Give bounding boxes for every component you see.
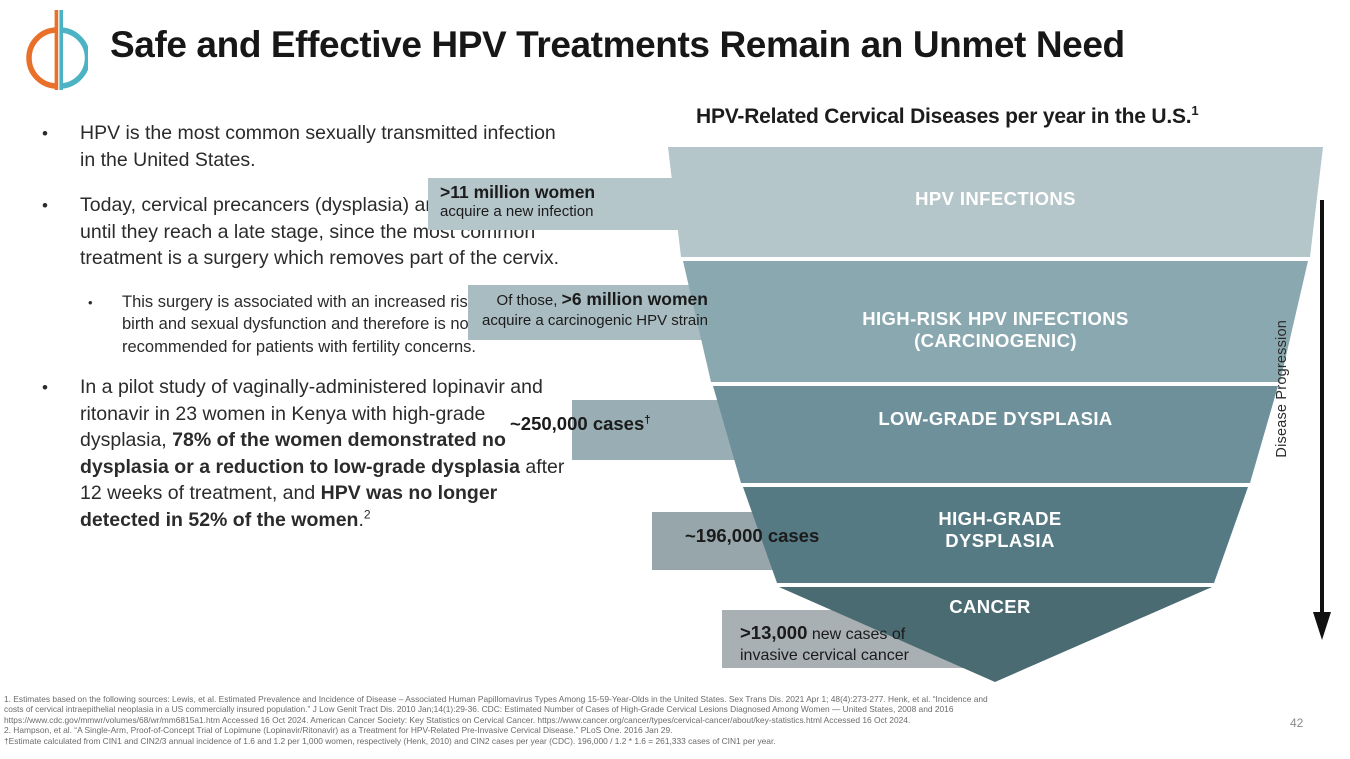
callout-3-line1: ~250,000 cases† <box>510 413 651 435</box>
page-number: 42 <box>1290 716 1303 730</box>
bullet-dot: • <box>42 193 48 220</box>
footnote-line: †Estimate calculated from CIN1 and CIN2/… <box>4 736 1274 746</box>
funnel-chart: HPV INFECTIONS HIGH-RISK HPV INFECTIONS … <box>410 140 1350 695</box>
funnel-label-high-grade-line2: DYSPLASIA <box>790 530 1210 552</box>
footnote-line: 1. Estimates based on the following sour… <box>4 694 1274 704</box>
callout-high-grade: ~196,000 cases <box>685 525 819 547</box>
footnote-line: 2. Hampson, et al. “A Single-Arm, Proof-… <box>4 725 1274 735</box>
callout-2-prefix: Of those, <box>497 292 562 309</box>
callout-5-line1: >13,000 new cases of <box>740 622 909 645</box>
footnote-line: costs of cervical intraepithelial neopla… <box>4 704 1274 714</box>
funnel-label-low-grade: LOW-GRADE DYSPLASIA <box>668 408 1323 430</box>
callout-hpv-infections: >11 million women acquire a new infectio… <box>440 182 595 222</box>
callout-5-value: >13,000 <box>740 622 807 643</box>
footnote-line: https://www.cdc.gov/mmwr/volumes/68/wr/m… <box>4 715 1274 725</box>
axis-label-disease-progression: Disease Progression <box>1274 320 1290 458</box>
bullet-dot: • <box>42 375 48 402</box>
funnel-label-high-risk: HIGH-RISK HPV INFECTIONS (CARCINOGENIC) <box>668 308 1323 352</box>
callout-5-text-1: new cases of <box>807 626 905 643</box>
bullet-dot: • <box>88 292 93 315</box>
funnel-title-text: HPV-Related Cervical Diseases per year i… <box>696 105 1191 128</box>
footnote-marker-1: 1 <box>1191 103 1198 118</box>
funnel-label-high-grade-line1: HIGH-GRADE <box>790 508 1210 530</box>
funnel-label-hpv-infections: HPV INFECTIONS <box>668 188 1323 210</box>
company-logo <box>26 8 88 94</box>
callout-2-line1: Of those, >6 million women <box>482 289 708 311</box>
callout-3-value: ~250,000 cases <box>510 413 644 434</box>
funnel-label-cancer: CANCER <box>840 596 1140 618</box>
funnel-label-high-grade: HIGH-GRADE DYSPLASIA <box>790 508 1210 552</box>
callout-1-value: >11 million women <box>440 182 595 202</box>
callout-low-grade: ~250,000 cases† <box>510 413 651 435</box>
callout-5-text-2: invasive cervical cancer <box>740 645 909 666</box>
page-title: Safe and Effective HPV Treatments Remain… <box>110 25 1290 66</box>
callout-4-value: ~196,000 cases <box>685 525 819 547</box>
funnel-label-high-risk-line1: HIGH-RISK HPV INFECTIONS <box>668 308 1323 330</box>
callout-2-text: acquire a carcinogenic HPV strain <box>482 311 708 331</box>
funnel-label-high-risk-line2: (CARCINOGENIC) <box>668 330 1323 352</box>
funnel-chart-title: HPV-Related Cervical Diseases per year i… <box>696 105 1198 129</box>
callout-high-risk: Of those, >6 million women acquire a car… <box>482 289 708 331</box>
funnel-band-low-grade <box>713 386 1278 483</box>
footnotes: 1. Estimates based on the following sour… <box>4 694 1274 746</box>
footnote-marker-2: 2 <box>364 507 371 521</box>
slide-canvas: Safe and Effective HPV Treatments Remain… <box>0 0 1350 759</box>
callout-2-value: >6 million women <box>562 289 708 309</box>
footnote-marker-dagger: † <box>644 414 650 426</box>
callout-cancer: >13,000 new cases of invasive cervical c… <box>740 622 909 666</box>
bullet-dot: • <box>42 121 48 148</box>
disease-progression-axis: Disease Progression <box>1290 200 1336 640</box>
callout-1-text: acquire a new infection <box>440 202 595 222</box>
down-arrow-icon <box>1290 200 1336 640</box>
